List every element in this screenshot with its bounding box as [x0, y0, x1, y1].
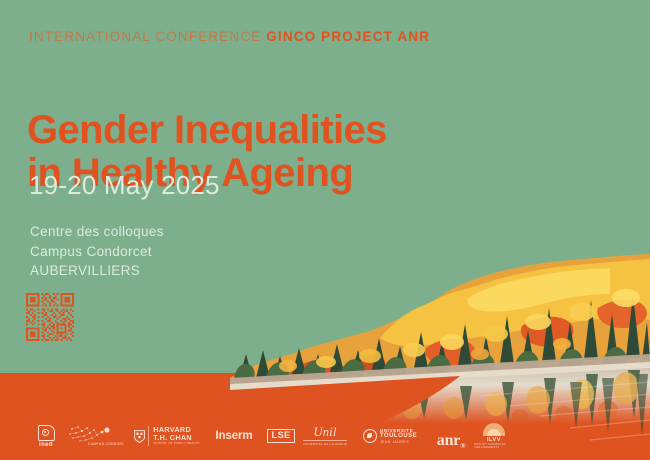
logo-ined: ined: [28, 420, 64, 452]
logo-anr: anr®: [428, 418, 474, 455]
ilvv-sun-shape: [487, 429, 501, 436]
poster-content: INTERNATIONAL CONFERENCE GINCO PROJECT A…: [0, 0, 650, 460]
anr-label: anr: [437, 432, 460, 450]
eyebrow-line: INTERNATIONAL CONFERENCE GINCO PROJECT A…: [29, 30, 430, 44]
eyebrow-prefix: INTERNATIONAL CONFERENCE: [29, 29, 261, 44]
toulouse-line-3: JEAN JAURES: [380, 440, 417, 444]
venue-line-2: Campus Condorcet: [30, 242, 164, 262]
conference-poster: INTERNATIONAL CONFERENCE GINCO PROJECT A…: [0, 0, 650, 460]
condorcet-constellation-icon: CAMPUS CONDORCET: [66, 425, 124, 447]
ined-mark-icon: [38, 425, 55, 441]
harvard-shield-icon: [134, 430, 145, 443]
logo-harvard: HARVARD T.H. CHAN SCHOOL OF PUBLIC HEALT…: [126, 420, 204, 452]
partner-logos: ined: [28, 420, 514, 452]
logo-campus-condorcet: CAMPUS CONDORCET: [64, 420, 126, 452]
harvard-line-3: SCHOOL OF PUBLIC HEALTH: [153, 442, 199, 445]
ilvv-sunrise-icon: [483, 423, 505, 436]
lse-label: LSE: [267, 429, 294, 444]
toulouse-seal-icon: [363, 429, 377, 443]
venue-line-3: AUBERVILLIERS: [30, 261, 164, 281]
eyebrow-highlight: GINCO PROJECT ANR: [266, 29, 430, 44]
condorcet-label: CAMPUS CONDORCET: [88, 442, 124, 446]
venue-address: Centre des colloques Campus Condorcet AU…: [30, 222, 164, 281]
qr-code[interactable]: [26, 293, 74, 341]
harvard-line-2: T.H. CHAN: [153, 434, 199, 442]
inserm-label: Inserm: [215, 430, 252, 442]
logo-ilvv: ILVV INSTITUT LONGEVITES VIEILLISSEMENTS: [474, 420, 514, 452]
logo-unil: Unil UNIVERSITE DE LAUSANNE: [298, 420, 352, 452]
conference-dates: 19-20 May 2025: [29, 172, 220, 198]
ined-label: ined: [39, 442, 53, 448]
title-line-1: Gender Inequalities: [27, 109, 447, 152]
harvard-text: HARVARD T.H. CHAN SCHOOL OF PUBLIC HEALT…: [148, 426, 199, 445]
anr-registered-mark: ®: [460, 442, 465, 450]
toulouse-line-2: TOULOUSE: [380, 433, 417, 440]
venue-line-1: Centre des colloques: [30, 222, 164, 242]
ilvv-sublabel: INSTITUT LONGEVITES VIEILLISSEMENTS: [474, 443, 514, 449]
logo-universite-toulouse: UNIVERSITE TOULOUSE JEAN JAURES: [352, 420, 428, 452]
logo-inserm: Inserm: [204, 420, 264, 452]
unil-sublabel: UNIVERSITE DE LAUSANNE: [303, 440, 347, 446]
logo-lse: LSE: [264, 420, 298, 452]
toulouse-text: UNIVERSITE TOULOUSE JEAN JAURES: [380, 428, 417, 444]
unil-label: Unil: [313, 426, 336, 439]
